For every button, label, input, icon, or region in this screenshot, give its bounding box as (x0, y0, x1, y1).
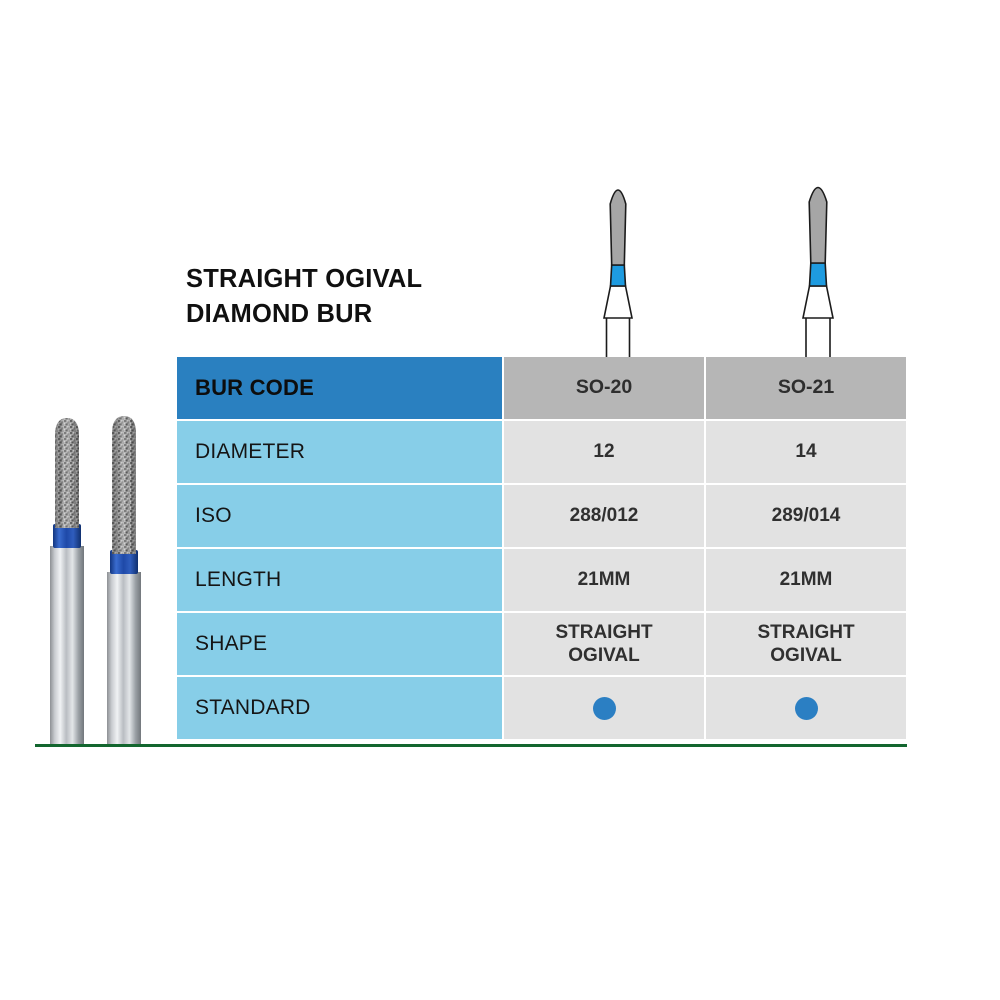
bur-shank-photo (50, 546, 84, 746)
table-row: ISO 288/012 289/014 (177, 485, 906, 547)
cell-iso-so20: 288/012 (504, 485, 704, 547)
schematic-bur-so20 (583, 168, 653, 363)
row-label-shape: SHAPE (177, 613, 502, 675)
product-photo-group (34, 396, 164, 751)
bur-color-band-icon (611, 265, 626, 286)
schematic-bur-so21 (783, 168, 853, 363)
bur-shank-icon (607, 318, 630, 358)
bur-color-band-icon (810, 263, 827, 286)
photo-bur-right (107, 414, 141, 746)
cell-iso-so21: 289/014 (706, 485, 906, 547)
table-body: BUR CODE SO-20 SO-21 DIAMETER 12 14 ISO … (177, 357, 906, 739)
row-label-length: LENGTH (177, 549, 502, 611)
bur-head-icon (809, 188, 827, 264)
photo-bur-left (50, 416, 84, 746)
cell-standard-so21 (706, 677, 906, 739)
table-row: DIAMETER 12 14 (177, 421, 906, 483)
table-row: STANDARD (177, 677, 906, 739)
row-label-standard: STANDARD (177, 677, 502, 739)
page-title: STRAIGHT OGIVAL DIAMOND BUR (186, 262, 516, 331)
specification-table: BUR CODE SO-20 SO-21 DIAMETER 12 14 ISO … (175, 355, 908, 741)
standard-dot-icon (593, 697, 616, 720)
cell-bur-code-so20: SO-20 (504, 357, 704, 419)
bur-shank-photo (107, 572, 141, 746)
standard-dot-icon (795, 697, 818, 720)
cell-standard-so20 (504, 677, 704, 739)
cell-bur-code-so21: SO-21 (706, 357, 906, 419)
table-row: SHAPE STRAIGHT OGIVAL STRAIGHT OGIVAL (177, 613, 906, 675)
table-row: BUR CODE SO-20 SO-21 (177, 357, 906, 419)
cell-length-so21: 21MM (706, 549, 906, 611)
row-label-iso: ISO (177, 485, 502, 547)
row-label-bur-code: BUR CODE (177, 357, 502, 419)
bur-neck-icon (604, 286, 632, 318)
baseline-divider (35, 744, 907, 747)
bur-neck-icon (803, 286, 833, 318)
bur-head-icon (610, 190, 626, 265)
table-row: LENGTH 21MM 21MM (177, 549, 906, 611)
cell-length-so20: 21MM (504, 549, 704, 611)
cell-diameter-so20: 12 (504, 421, 704, 483)
row-label-diameter: DIAMETER (177, 421, 502, 483)
cell-shape-so20: STRAIGHT OGIVAL (504, 613, 704, 675)
cell-diameter-so21: 14 (706, 421, 906, 483)
bur-shank-icon (806, 318, 830, 358)
cell-shape-so21: STRAIGHT OGIVAL (706, 613, 906, 675)
